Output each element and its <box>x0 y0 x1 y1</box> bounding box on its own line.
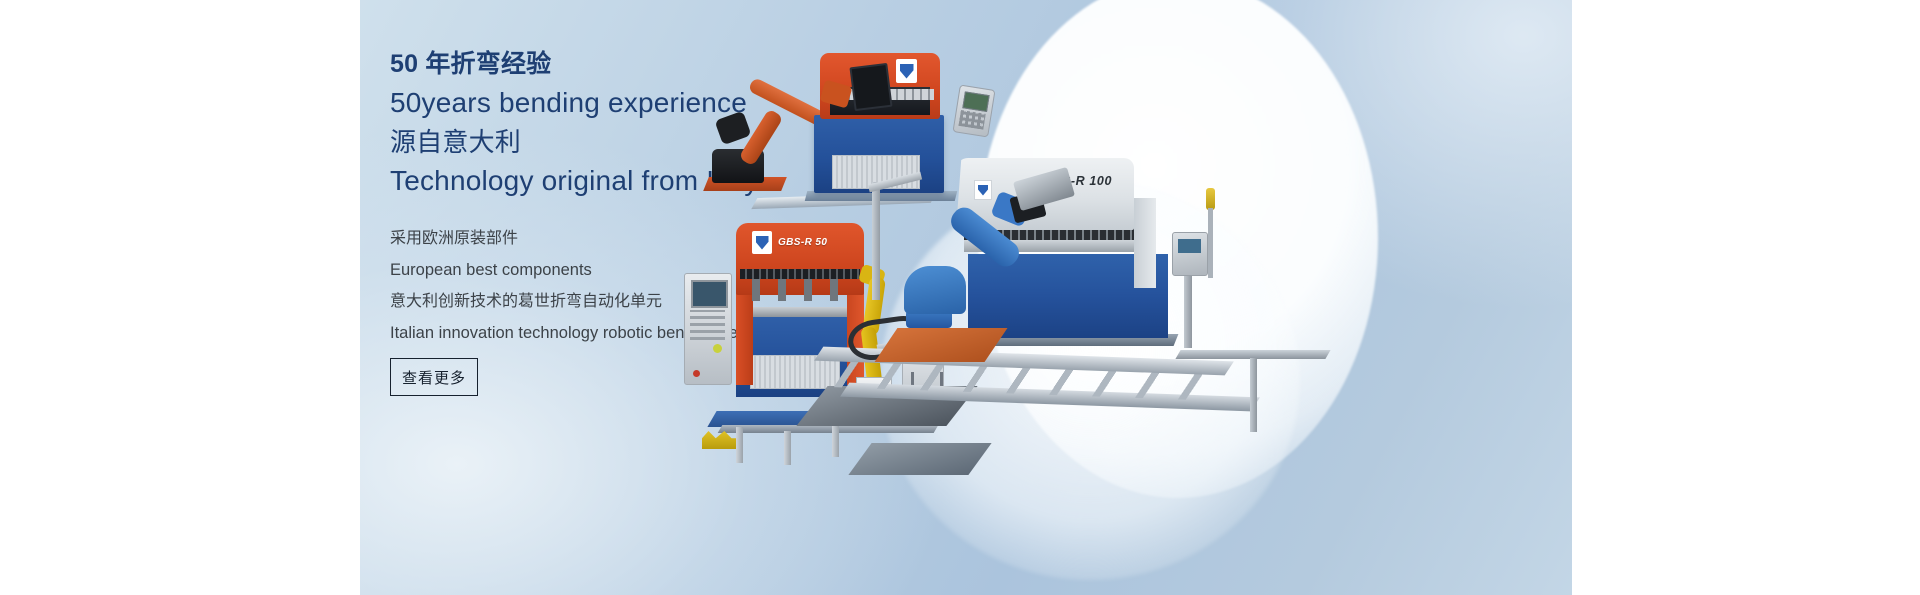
signal-lamp-post <box>1208 208 1213 278</box>
pendant-screen <box>962 91 989 112</box>
yellow-floor-marker <box>702 431 738 449</box>
control-pendant <box>952 84 995 137</box>
console-red-button <box>693 370 700 377</box>
lag-logo-icon <box>752 231 772 254</box>
press-brake-post-right <box>1134 198 1156 288</box>
machine-leg <box>832 425 839 457</box>
console-screen <box>691 280 728 308</box>
machine-leg <box>784 431 791 465</box>
safety-guard-post <box>872 182 880 300</box>
machine-gbs-r-100-cell: GBS-R 100 <box>920 158 1350 458</box>
lag-logo-icon <box>896 59 917 83</box>
press-brake-tooling-rail <box>740 269 860 279</box>
pendant-keypad <box>959 110 986 130</box>
press-brake-monitor <box>849 63 892 111</box>
robot-elbow <box>714 111 751 146</box>
model-label-gbs-r-50: GBS-R 50 <box>778 237 827 248</box>
signal-lamp-icon <box>1206 188 1215 210</box>
operator-console <box>684 273 732 385</box>
console-keypad <box>690 310 725 340</box>
hero-banner: 50 年折弯经验 50years bending experience 源自意大… <box>360 0 1572 595</box>
machine-collage-image: GBS-R 50 GBS-R 100 <box>360 0 1572 595</box>
robot-shoulder <box>904 266 966 314</box>
machine-leg <box>736 427 743 463</box>
press-brake-bed <box>736 307 864 317</box>
outrigger-leg <box>1250 358 1257 432</box>
lag-logo-icon <box>974 180 992 200</box>
pendant-stand <box>1184 270 1192 348</box>
press-brake-punch-tools <box>746 279 852 301</box>
console-green-button <box>713 344 722 353</box>
pendant-screen <box>1178 239 1201 253</box>
robot-carriage-plate <box>875 328 1008 362</box>
control-pendant <box>1172 232 1208 276</box>
machine-rail-grey <box>718 425 939 433</box>
